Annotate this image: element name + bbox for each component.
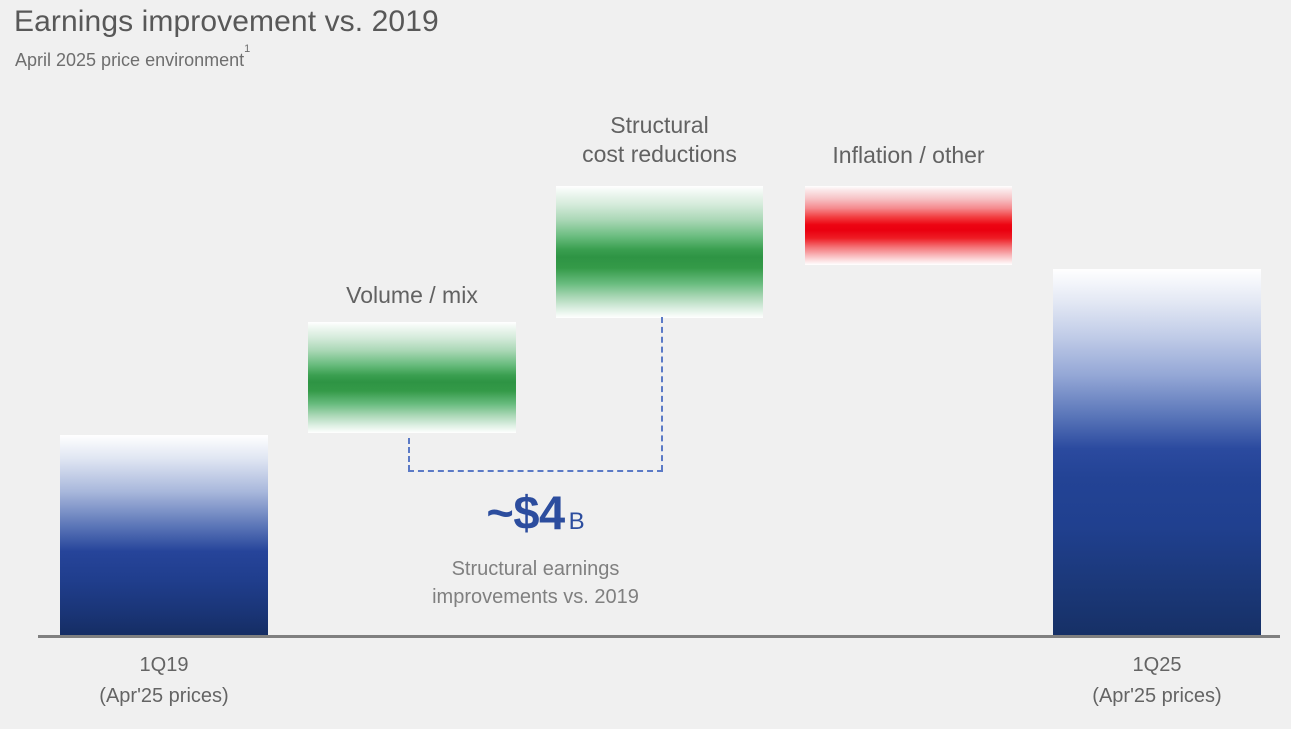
bar-volume-mix	[308, 322, 516, 433]
axis-label-1q19: 1Q19 (Apr'25 prices)	[60, 650, 268, 712]
bar-label-structural-cost-reductions: Structural cost reductions	[548, 111, 771, 169]
bar-structural-cost-reductions	[556, 186, 763, 318]
bracket-left-leg	[408, 438, 410, 471]
axis-baseline	[38, 635, 1280, 638]
axis-label-1q25: 1Q25 (Apr'25 prices)	[1053, 650, 1261, 712]
bracket-right-leg	[661, 317, 663, 471]
callout-description: Structural earnings improvements vs. 201…	[378, 555, 693, 611]
callout-unit: B	[569, 508, 585, 535]
bar-1q25-total	[1053, 269, 1261, 636]
callout-value-row: ~$4B	[378, 487, 693, 548]
bar-label-inflation-other: Inflation / other	[797, 141, 1020, 170]
bar-inflation-other	[805, 186, 1012, 265]
bracket-horizontal	[408, 470, 663, 472]
callout-value: ~$4	[486, 486, 564, 539]
bar-1q19-baseline	[60, 435, 268, 636]
callout-structural-earnings: ~$4B Structural earnings improvements vs…	[378, 487, 693, 611]
bar-label-volume-mix: Volume / mix	[308, 281, 516, 310]
earnings-waterfall-chart: Earnings improvement vs. 2019 April 2025…	[0, 0, 1291, 729]
plot-area: Volume / mix Structural cost reductions …	[0, 0, 1291, 729]
